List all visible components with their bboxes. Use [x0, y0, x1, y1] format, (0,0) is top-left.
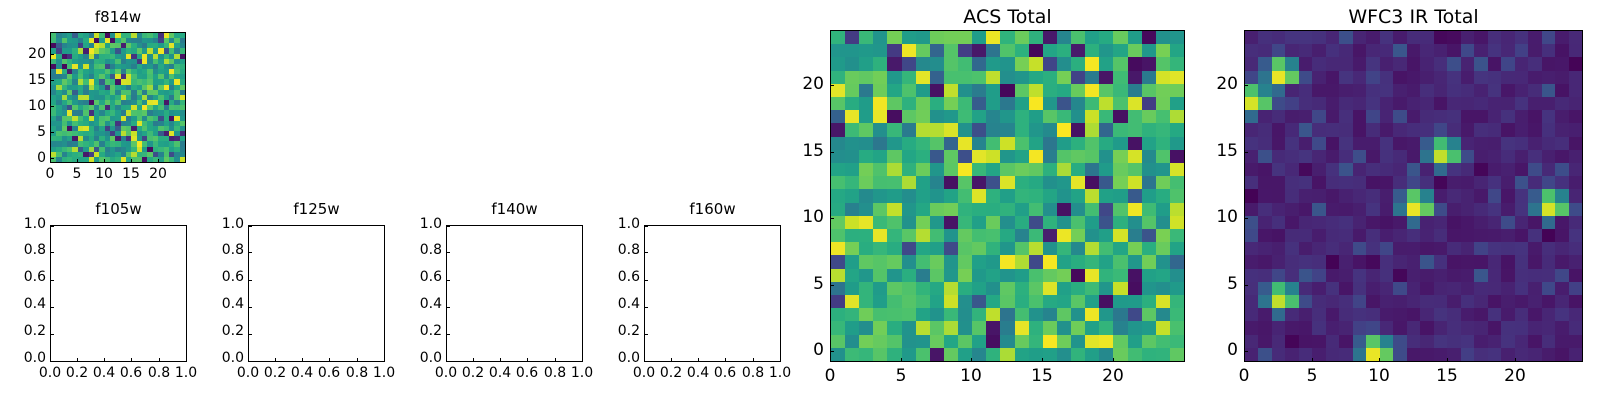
heatmap-f814w	[51, 33, 185, 162]
axes-f125w	[248, 225, 385, 362]
axes-f140w	[446, 225, 583, 362]
panel-title-f140w: f140w	[446, 200, 583, 218]
panel-title-f160w: f160w	[644, 200, 781, 218]
panel-title-f814w: f814w	[50, 8, 186, 26]
axes-wfc3-ir-total	[1244, 30, 1583, 362]
panel-title-acs-total: ACS Total	[830, 6, 1185, 28]
heatmap-wfc3-ir-total	[1245, 31, 1582, 361]
heatmap-acs-total	[831, 31, 1184, 361]
panel-title-f105w: f105w	[50, 200, 187, 218]
axes-f814w	[50, 32, 186, 163]
axes-acs-total	[830, 30, 1185, 362]
axes-f105w	[50, 225, 187, 362]
panel-title-f125w: f125w	[248, 200, 385, 218]
axes-f160w	[644, 225, 781, 362]
panel-title-wfc3-ir-total: WFC3 IR Total	[1244, 6, 1583, 28]
